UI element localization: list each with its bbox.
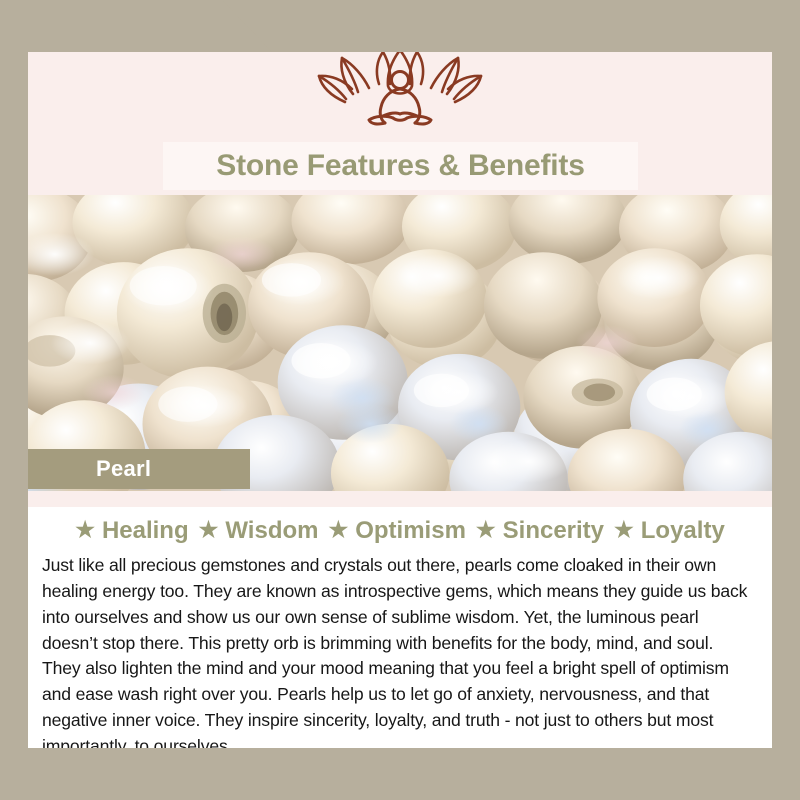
pearl-photo-graphic bbox=[28, 195, 772, 491]
description-paragraph: Just like all precious gemstones and cry… bbox=[42, 553, 756, 748]
stone-label-bar: Pearl bbox=[28, 449, 250, 489]
star-icon: ★ bbox=[328, 519, 348, 541]
frame-border-top bbox=[0, 0, 800, 52]
benefit-label: Optimism bbox=[355, 517, 466, 545]
benefit-label: Loyalty bbox=[641, 517, 725, 545]
benefit-item-optimism: ★ Optimism bbox=[328, 517, 465, 545]
frame-border-left bbox=[0, 0, 28, 800]
star-icon: ★ bbox=[476, 519, 496, 541]
stone-name: Pearl bbox=[96, 456, 151, 482]
benefit-item-sincerity: ★ Sincerity bbox=[476, 517, 604, 545]
page-title: Stone Features & Benefits bbox=[216, 149, 584, 183]
frame-border-bottom bbox=[0, 748, 800, 800]
content-top-tint bbox=[28, 491, 772, 507]
benefit-item-wisdom: ★ Wisdom bbox=[199, 517, 319, 545]
title-band: Stone Features & Benefits bbox=[163, 142, 638, 190]
poster-card: BUDDHA STONES Stone Features & Benefits bbox=[28, 52, 772, 748]
benefits-list: ★ Healing ★ Wisdom ★ Optimism ★ Sincerit… bbox=[28, 517, 772, 545]
infographic-poster: BUDDHA STONES Stone Features & Benefits bbox=[0, 0, 800, 800]
benefit-label: Healing bbox=[102, 517, 189, 545]
lotus-meditation-icon bbox=[305, 52, 495, 140]
benefit-item-healing: ★ Healing bbox=[75, 517, 188, 545]
benefit-label: Sincerity bbox=[503, 517, 604, 545]
content-panel: ★ Healing ★ Wisdom ★ Optimism ★ Sincerit… bbox=[28, 491, 772, 748]
star-icon: ★ bbox=[614, 519, 634, 541]
benefit-item-loyalty: ★ Loyalty bbox=[614, 517, 725, 545]
pearl-photo bbox=[28, 195, 772, 491]
star-icon: ★ bbox=[199, 519, 219, 541]
benefit-label: Wisdom bbox=[225, 517, 318, 545]
star-icon: ★ bbox=[75, 519, 95, 541]
frame-border-right bbox=[772, 0, 800, 800]
